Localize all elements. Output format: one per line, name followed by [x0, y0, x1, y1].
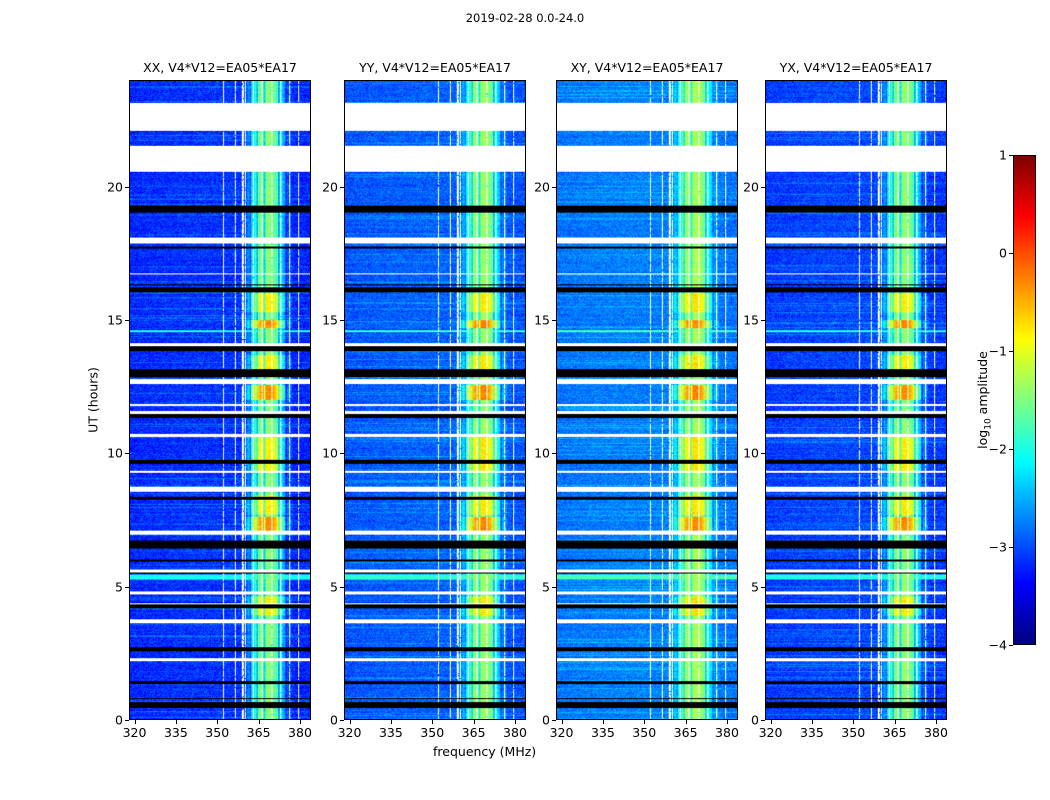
x-tick	[432, 720, 433, 724]
y-tick-label: 15	[743, 313, 759, 328]
x-tick	[644, 720, 645, 724]
colorbar: −4−3−2−101	[1013, 155, 1036, 645]
colorbar-tick-label: −3	[989, 540, 1007, 555]
x-tick	[936, 720, 937, 724]
y-tick-label: 10	[743, 446, 759, 461]
colorbar-tick-label: 0	[999, 246, 1007, 261]
x-tick	[727, 720, 728, 724]
y-tick-label: 5	[751, 579, 759, 594]
colorbar-tick	[1009, 253, 1013, 254]
x-tick	[853, 720, 854, 724]
colorbar-tick	[1009, 449, 1013, 450]
colorbar-gradient	[1014, 156, 1035, 644]
x-axis-label: frequency (MHz)	[433, 744, 536, 759]
x-tick	[771, 720, 772, 724]
y-tick	[761, 587, 765, 588]
panel-plot-area-xx	[129, 80, 311, 720]
figure-canvas: 2019-02-28 0.0-24.0 frequency (MHz) UT (…	[0, 0, 1050, 800]
y-tick-label: 20	[534, 179, 550, 194]
panel-plot-area-xy	[556, 80, 738, 720]
y-tick-label: 15	[534, 313, 550, 328]
x-tick-label: 380	[503, 725, 527, 740]
y-tick	[125, 453, 129, 454]
x-tick	[895, 720, 896, 724]
y-tick	[761, 453, 765, 454]
y-tick	[761, 187, 765, 188]
y-tick	[340, 720, 344, 721]
colorbar-tick	[1009, 547, 1013, 548]
panel-yy: YY, V4*V12=EA05*EA1732033535036538005101…	[344, 80, 526, 720]
x-tick-label: 320	[759, 725, 783, 740]
x-tick-label: 335	[800, 725, 824, 740]
y-tick	[552, 187, 556, 188]
panel-xx: XX, V4*V12=EA05*EA1732033535036538005101…	[129, 80, 311, 720]
y-tick	[552, 320, 556, 321]
y-tick-label: 0	[542, 713, 550, 728]
panel-title-yy: YY, V4*V12=EA05*EA17	[359, 60, 511, 75]
x-tick-label: 350	[205, 725, 229, 740]
x-tick-label: 380	[715, 725, 739, 740]
x-tick-label: 335	[164, 725, 188, 740]
figure-suptitle: 2019-02-28 0.0-24.0	[0, 11, 1050, 25]
y-tick-label: 5	[542, 579, 550, 594]
waterfall-image-yx	[766, 81, 946, 719]
y-tick	[125, 720, 129, 721]
x-tick	[391, 720, 392, 724]
colorbar-label-subscript: 10	[983, 418, 993, 429]
panel-plot-area-yy	[344, 80, 526, 720]
x-tick	[217, 720, 218, 724]
waterfall-image-yy	[345, 81, 525, 719]
y-tick	[552, 453, 556, 454]
x-tick	[474, 720, 475, 724]
x-tick-label: 380	[924, 725, 948, 740]
y-tick-label: 5	[115, 579, 123, 594]
y-tick	[552, 720, 556, 721]
y-tick	[125, 587, 129, 588]
y-tick-label: 10	[322, 446, 338, 461]
y-tick-label: 10	[534, 446, 550, 461]
y-tick-label: 15	[107, 313, 123, 328]
y-tick-label: 15	[322, 313, 338, 328]
x-tick-label: 365	[462, 725, 486, 740]
x-tick-label: 365	[674, 725, 698, 740]
colorbar-tick	[1009, 645, 1013, 646]
x-tick-label: 335	[591, 725, 615, 740]
waterfall-image-xy	[557, 81, 737, 719]
x-tick-label: 320	[123, 725, 147, 740]
x-tick	[176, 720, 177, 724]
y-tick-label: 20	[107, 179, 123, 194]
x-tick-label: 350	[420, 725, 444, 740]
colorbar-tick	[1009, 155, 1013, 156]
x-tick-label: 365	[247, 725, 271, 740]
x-tick	[812, 720, 813, 724]
x-tick-label: 365	[883, 725, 907, 740]
x-tick-label: 350	[632, 725, 656, 740]
y-tick-label: 0	[115, 713, 123, 728]
x-tick	[603, 720, 604, 724]
waterfall-image-xx	[130, 81, 310, 719]
y-tick	[340, 587, 344, 588]
x-tick	[562, 720, 563, 724]
colorbar-tick-label: −4	[989, 638, 1007, 653]
x-tick-label: 350	[841, 725, 865, 740]
x-tick	[259, 720, 260, 724]
x-tick-label: 320	[338, 725, 362, 740]
y-tick-label: 5	[330, 579, 338, 594]
panel-yx: YX, V4*V12=EA05*EA1732033535036538005101…	[765, 80, 947, 720]
y-tick	[761, 320, 765, 321]
y-tick	[340, 453, 344, 454]
panel-title-xx: XX, V4*V12=EA05*EA17	[143, 60, 297, 75]
y-tick	[340, 320, 344, 321]
y-tick-label: 20	[743, 179, 759, 194]
y-tick	[761, 720, 765, 721]
panel-title-yx: YX, V4*V12=EA05*EA17	[780, 60, 933, 75]
panel-plot-area-yx	[765, 80, 947, 720]
colorbar-tick-label: 1	[999, 148, 1007, 163]
colorbar-tick	[1009, 351, 1013, 352]
colorbar-frame	[1013, 155, 1036, 645]
colorbar-label: log10 amplitude	[975, 351, 994, 449]
x-tick	[135, 720, 136, 724]
panel-xy: XY, V4*V12=EA05*EA1732033535036538005101…	[556, 80, 738, 720]
x-tick	[686, 720, 687, 724]
colorbar-label-tail: amplitude	[975, 351, 990, 418]
y-tick	[125, 187, 129, 188]
y-tick	[340, 187, 344, 188]
x-tick	[350, 720, 351, 724]
x-tick-label: 335	[379, 725, 403, 740]
y-tick-label: 0	[751, 713, 759, 728]
x-tick	[300, 720, 301, 724]
x-tick	[515, 720, 516, 724]
x-tick-label: 380	[288, 725, 312, 740]
y-axis-label: UT (hours)	[86, 367, 101, 433]
colorbar-label-base: log	[975, 430, 990, 449]
panel-title-xy: XY, V4*V12=EA05*EA17	[571, 60, 724, 75]
y-tick-label: 20	[322, 179, 338, 194]
y-tick	[552, 587, 556, 588]
y-tick	[125, 320, 129, 321]
x-tick-label: 320	[550, 725, 574, 740]
y-tick-label: 0	[330, 713, 338, 728]
y-tick-label: 10	[107, 446, 123, 461]
